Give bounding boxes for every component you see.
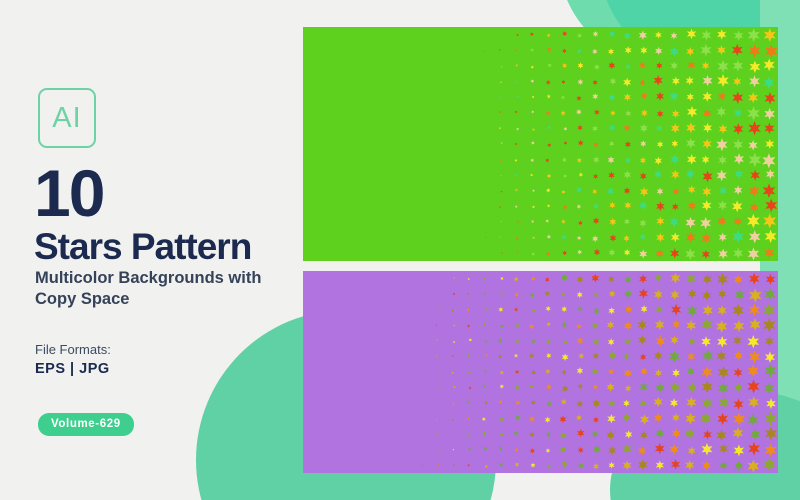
green-stars-panel <box>303 27 778 261</box>
ai-format-badge: AI <box>38 88 96 148</box>
ai-badge-label: AI <box>52 102 81 135</box>
item-count: 10 <box>34 160 103 226</box>
info-column: AI 10 Stars Pattern Multicolor Backgroun… <box>0 0 300 500</box>
page-subtitle: Multicolor Backgrounds with Copy Space <box>35 268 285 309</box>
file-formats-value: EPS | JPG <box>35 361 110 377</box>
purple-stars-panel <box>303 271 778 473</box>
file-formats-label: File Formats: <box>35 342 111 357</box>
preview-canvas: AI 10 Stars Pattern Multicolor Backgroun… <box>0 0 800 500</box>
volume-badge: Volume-629 <box>38 413 134 436</box>
page-title: Stars Pattern <box>34 228 251 265</box>
